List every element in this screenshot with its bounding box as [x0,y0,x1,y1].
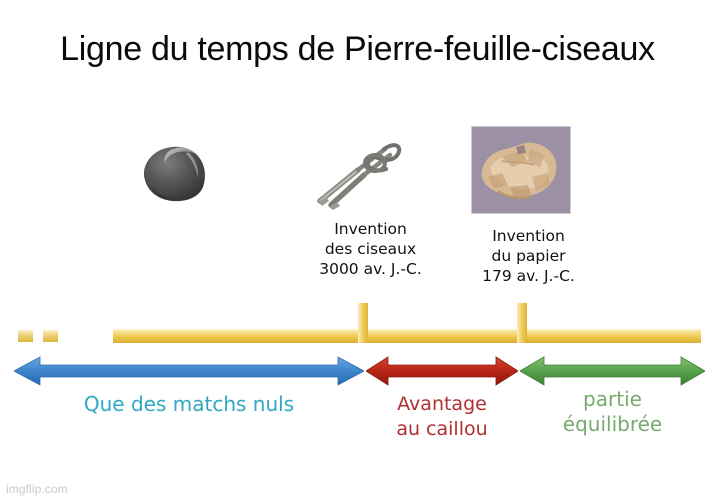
caption-line: 179 av. J.-C. [441,266,616,286]
double-arrow-icon [14,356,364,386]
segment-arrow-red [366,356,518,386]
double-arrow-icon [366,356,518,386]
rock-icon [133,140,215,206]
segment-arrow-green [520,356,705,386]
segment-label-line: au caillou [366,417,518,442]
segment-arrow-blue [14,356,364,386]
timeline-tick-paper [517,303,527,343]
segment-label-line: Que des matchs nuls [14,392,364,417]
page-title: Ligne du temps de Pierre-feuille-ciseaux [0,30,715,69]
segment-label-line: équilibrée [520,412,705,437]
timeline-dash [18,330,33,342]
scissors-icon [306,131,412,213]
timeline-dash [43,330,58,342]
segment-label-blue: Que des matchs nuls [14,392,364,417]
double-arrow-icon [520,356,705,386]
event-caption-paper: Invention du papier 179 av. J.-C. [441,226,616,286]
rock-image [133,140,215,206]
caption-line: 3000 av. J.-C. [283,259,458,279]
timeline-bar [113,329,701,343]
meme-image: Ligne du temps de Pierre-feuille-ciseaux [0,0,715,500]
caption-line: du papier [441,246,616,266]
event-caption-scissors: Invention des ciseaux 3000 av. J.-C. [283,219,458,279]
segment-label-green: partie équilibrée [520,387,705,437]
crumpled-paper-icon [472,127,570,213]
caption-line: des ciseaux [283,239,458,259]
segment-label-line: partie [520,387,705,412]
scissors-image [306,131,412,213]
caption-line: Invention [441,226,616,246]
segment-label-red: Avantage au caillou [366,392,518,442]
imgflip-watermark: imgflip.com [6,482,68,496]
caption-line: Invention [283,219,458,239]
segment-label-line: Avantage [366,392,518,417]
paper-image [471,126,571,214]
timeline-tick-scissors [358,303,368,343]
